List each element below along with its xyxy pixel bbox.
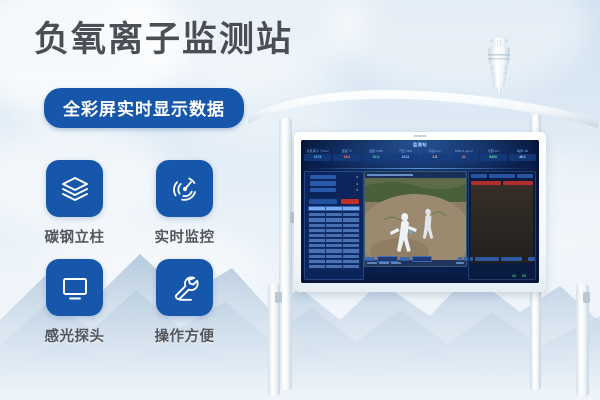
kpi-label: 气压 hPa: [392, 149, 419, 153]
feature-label: 操作方便: [155, 325, 215, 346]
alarm-count-badge: [341, 199, 359, 204]
kpi-value: 46.2: [509, 154, 536, 160]
feature-item-photosensor-probe[interactable]: 感光探头: [46, 259, 103, 346]
readout-value: 12: [512, 274, 516, 278]
kpi-value: 1.8: [421, 154, 448, 160]
wrench-icon: [156, 259, 213, 316]
kpi-label: 风速 m/s: [421, 149, 448, 153]
stat-label-bar: [310, 188, 336, 192]
kpi-strip: 负氧离子 个/cm³ 2178 温度 ℃ 18.6 湿度 %RH 62.4 气压…: [304, 149, 536, 161]
kpi-card: 噪声 dB 46.2: [509, 149, 536, 161]
alarm-header: [309, 199, 359, 204]
stat-value: 0: [356, 188, 358, 192]
feature-label: 碳钢立柱: [45, 226, 105, 247]
led-display-panel[interactable]: 监测站 负氧离子 个/cm³ 2178 温度 ℃ 18.6 湿度 %RH 62.…: [294, 132, 546, 292]
feature-label: 实时监控: [155, 226, 215, 247]
site-photo-thumbnail: [471, 185, 533, 263]
main-support-post: [279, 118, 292, 390]
video-overlay-top: [365, 172, 466, 178]
device-stat-row: 3: [310, 181, 358, 185]
feature-label: 感光探头: [45, 325, 105, 346]
kpi-label: PM2.5 μg/m³: [450, 149, 477, 153]
green-readouts: 12 23: [512, 274, 526, 278]
kpi-card: 风速 m/s 1.8: [421, 149, 448, 161]
table-row[interactable]: [308, 264, 360, 269]
feature-row-top: 碳钢立柱 实时监控: [46, 160, 226, 247]
alarm-title-bar: [309, 199, 337, 204]
kpi-card: 气压 hPa 1013: [392, 149, 419, 161]
stat-value: 3: [356, 182, 358, 186]
stat-label-bar: [310, 181, 336, 185]
kpi-value: 18.6: [333, 154, 360, 160]
kpi-value: 62.4: [363, 154, 390, 160]
subtitle-badge: 全彩屏实时显示数据: [44, 88, 244, 128]
kpi-card: 光照 lux 8420: [480, 149, 507, 161]
kpi-label: 光照 lux: [480, 149, 507, 153]
device-stat-row: 6: [310, 175, 358, 179]
promo-image-root: 负氧离子监测站 全彩屏实时显示数据 碳钢立柱: [0, 0, 600, 400]
dashboard-title: 监测站: [301, 142, 539, 148]
device-stat-row: 0: [310, 188, 358, 192]
video-scene: [365, 172, 466, 266]
readout-value: 23: [522, 274, 526, 278]
control-row: [364, 254, 536, 264]
feature-item-realtime-monitoring[interactable]: 实时监控: [156, 160, 213, 247]
canopy-roof-icon: [246, 86, 600, 132]
feature-grid: 碳钢立柱 实时监控: [46, 160, 226, 358]
feature-item-easy-operation[interactable]: 操作方便: [156, 259, 213, 346]
post-bracket: [275, 292, 282, 303]
kpi-label: 湿度 %RH: [363, 149, 390, 153]
kpi-value: 8420: [480, 154, 507, 160]
monitor-icon: [46, 259, 103, 316]
screen-controls[interactable]: 12 23: [364, 254, 536, 280]
kpi-label: 负氧离子 个/cm³: [304, 149, 331, 153]
kpi-value: 2178: [304, 154, 331, 160]
records-table[interactable]: [308, 206, 360, 269]
table-header-row: [308, 206, 360, 211]
radar-icon: [156, 160, 213, 217]
feature-item-carbon-steel-column[interactable]: 碳钢立柱: [46, 160, 103, 247]
kpi-card: 湿度 %RH 62.4: [363, 149, 390, 161]
section-divider: [305, 168, 535, 169]
kpi-value: 31: [450, 154, 477, 160]
post-bracket: [583, 292, 590, 303]
monitoring-station: 监测站 负氧离子 个/cm³ 2178 温度 ℃ 18.6 湿度 %RH 62.…: [246, 34, 600, 400]
stat-value: 6: [356, 175, 358, 179]
layers-icon: [46, 160, 103, 217]
left-data-panel[interactable]: 6 3 0: [304, 171, 364, 280]
kpi-label: 噪声 dB: [509, 149, 536, 153]
kpi-label: 温度 ℃: [333, 149, 360, 153]
dashboard-screen[interactable]: 监测站 负氧离子 个/cm³ 2178 温度 ℃ 18.6 湿度 %RH 62.…: [301, 140, 539, 283]
bezel-sensor-strip: [414, 135, 427, 137]
kpi-card: PM2.5 μg/m³ 31: [450, 149, 477, 161]
kpi-card: 负氧离子 个/cm³ 2178: [304, 149, 331, 161]
right-panel-header: [469, 172, 535, 180]
kpi-value: 1013: [392, 154, 419, 160]
live-video-feed[interactable]: [364, 171, 467, 267]
stat-label-bar: [310, 175, 336, 179]
feature-row-bottom: 感光探头 操作方便: [46, 259, 226, 346]
device-stat-list: 6 3 0: [305, 172, 363, 196]
kpi-card: 温度 ℃ 18.6: [333, 149, 360, 161]
